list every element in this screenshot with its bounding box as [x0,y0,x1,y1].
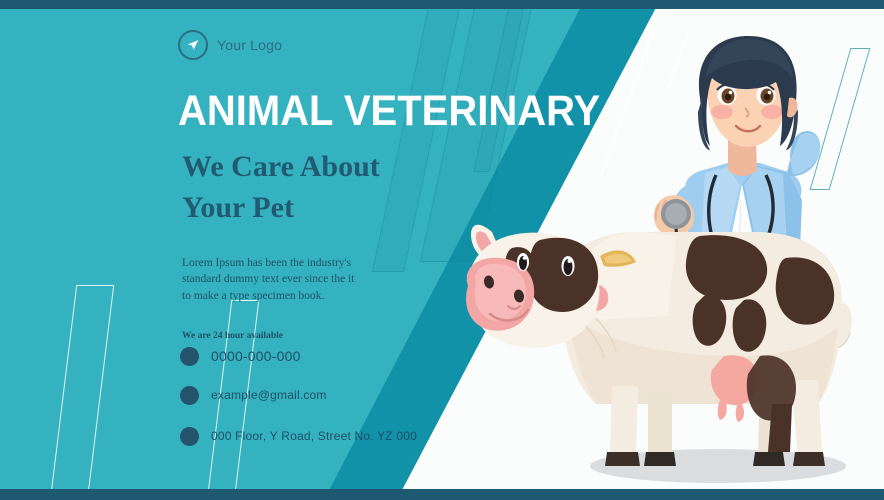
location-icon [180,427,199,446]
email-value: example@gmail.com [211,388,327,402]
subheadline: We Care About Your Pet [182,147,518,229]
subheadline-line-2: Your Pet [182,191,294,224]
content-column: Your Logo ANIMAL VETERINARY We Care Abou… [178,30,518,468]
veterinary-banner: Your Logo ANIMAL VETERINARY We Care Abou… [0,0,884,500]
top-bar [0,0,884,9]
page-title: ANIMAL VETERINARY [178,90,494,133]
phone-value: 0000-000-000 [211,348,301,364]
availability-label: We are 24 hour available [182,331,518,341]
contact-address[interactable]: 000 Floor, Y Road, Street No. YZ 000 [180,427,518,446]
address-value: 000 Floor, Y Road, Street No. YZ 000 [211,429,417,443]
logo[interactable]: Your Logo [178,30,518,60]
subheadline-line-1: We Care About [182,150,380,183]
email-icon [180,386,199,405]
logo-text: Your Logo [217,37,282,53]
bottom-bar [0,489,884,500]
contact-phone[interactable]: 0000-000-000 [180,347,518,366]
phone-icon [180,347,199,366]
send-plane-icon [178,30,208,60]
body-paragraph: Lorem Ipsum has been the industry's stan… [182,255,362,305]
contact-email[interactable]: example@gmail.com [180,386,518,405]
